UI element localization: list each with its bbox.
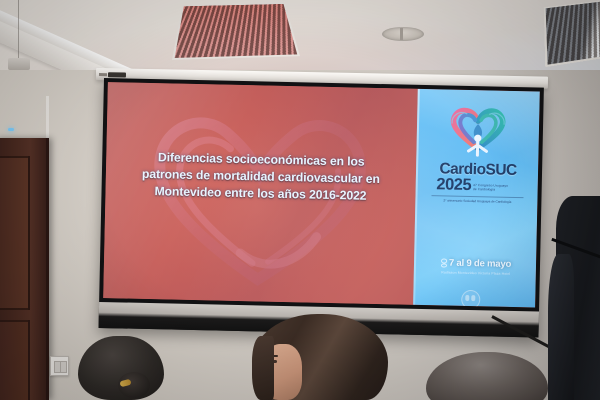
projected-slide: Diferencias socioeconómicas en los patro… [103,82,540,307]
louvered-ceiling-light-icon [544,0,600,67]
wordmark-sub-lines: 47 Congreso Uruguayo de Cardiología [473,183,519,194]
slide-red-panel: Diferencias socioeconómicas en los patro… [103,82,418,305]
wordmark-year: 2025 [436,176,471,193]
louvered-ceiling-light-icon [172,3,300,60]
event-dates-line: 7 al 9 de mayo [424,257,528,270]
audience-member [252,314,388,400]
status-led-icon [8,128,14,131]
slide-title: Diferencias socioeconómicas en los patro… [113,148,408,205]
housing-bracket-small [99,73,107,76]
event-dates: 7 al 9 de mayo [449,258,511,270]
recessed-ceiling-vent-icon [382,27,424,41]
suc-society-emblem-icon [461,290,480,308]
door-lower-panel [0,320,30,400]
hair [426,352,548,400]
housing-bracket [108,72,126,77]
wordmark-sub-line2: de Cardiología [473,187,519,192]
event-dates-block: 7 al 9 de mayo Radisson Montevideo Victo… [424,257,528,276]
wooden-door[interactable] [0,138,49,400]
cardiosuc-wordmark: CardioSUC 2025 47 Congreso Uruguayo de C… [423,161,532,204]
standing-person [548,196,600,400]
ceiling-sensor-icon [8,58,30,70]
calendar-dots-icon [441,258,446,267]
arm [548,254,574,400]
projection-screen: Diferencias socioeconómicas en los patro… [99,78,544,338]
audience-member [426,352,548,400]
conference-room-photo: Diferencias socioeconómicas en los patro… [0,0,600,400]
slide-blue-panel: CardioSUC 2025 47 Congreso Uruguayo de C… [413,89,540,308]
audience-member [78,336,164,400]
wall-light-switch[interactable] [50,356,69,376]
door-upper-panel [0,156,30,310]
hair-strand [252,336,274,400]
hanging-wire [18,0,19,62]
heart-ribbon-logo-icon [444,101,511,162]
